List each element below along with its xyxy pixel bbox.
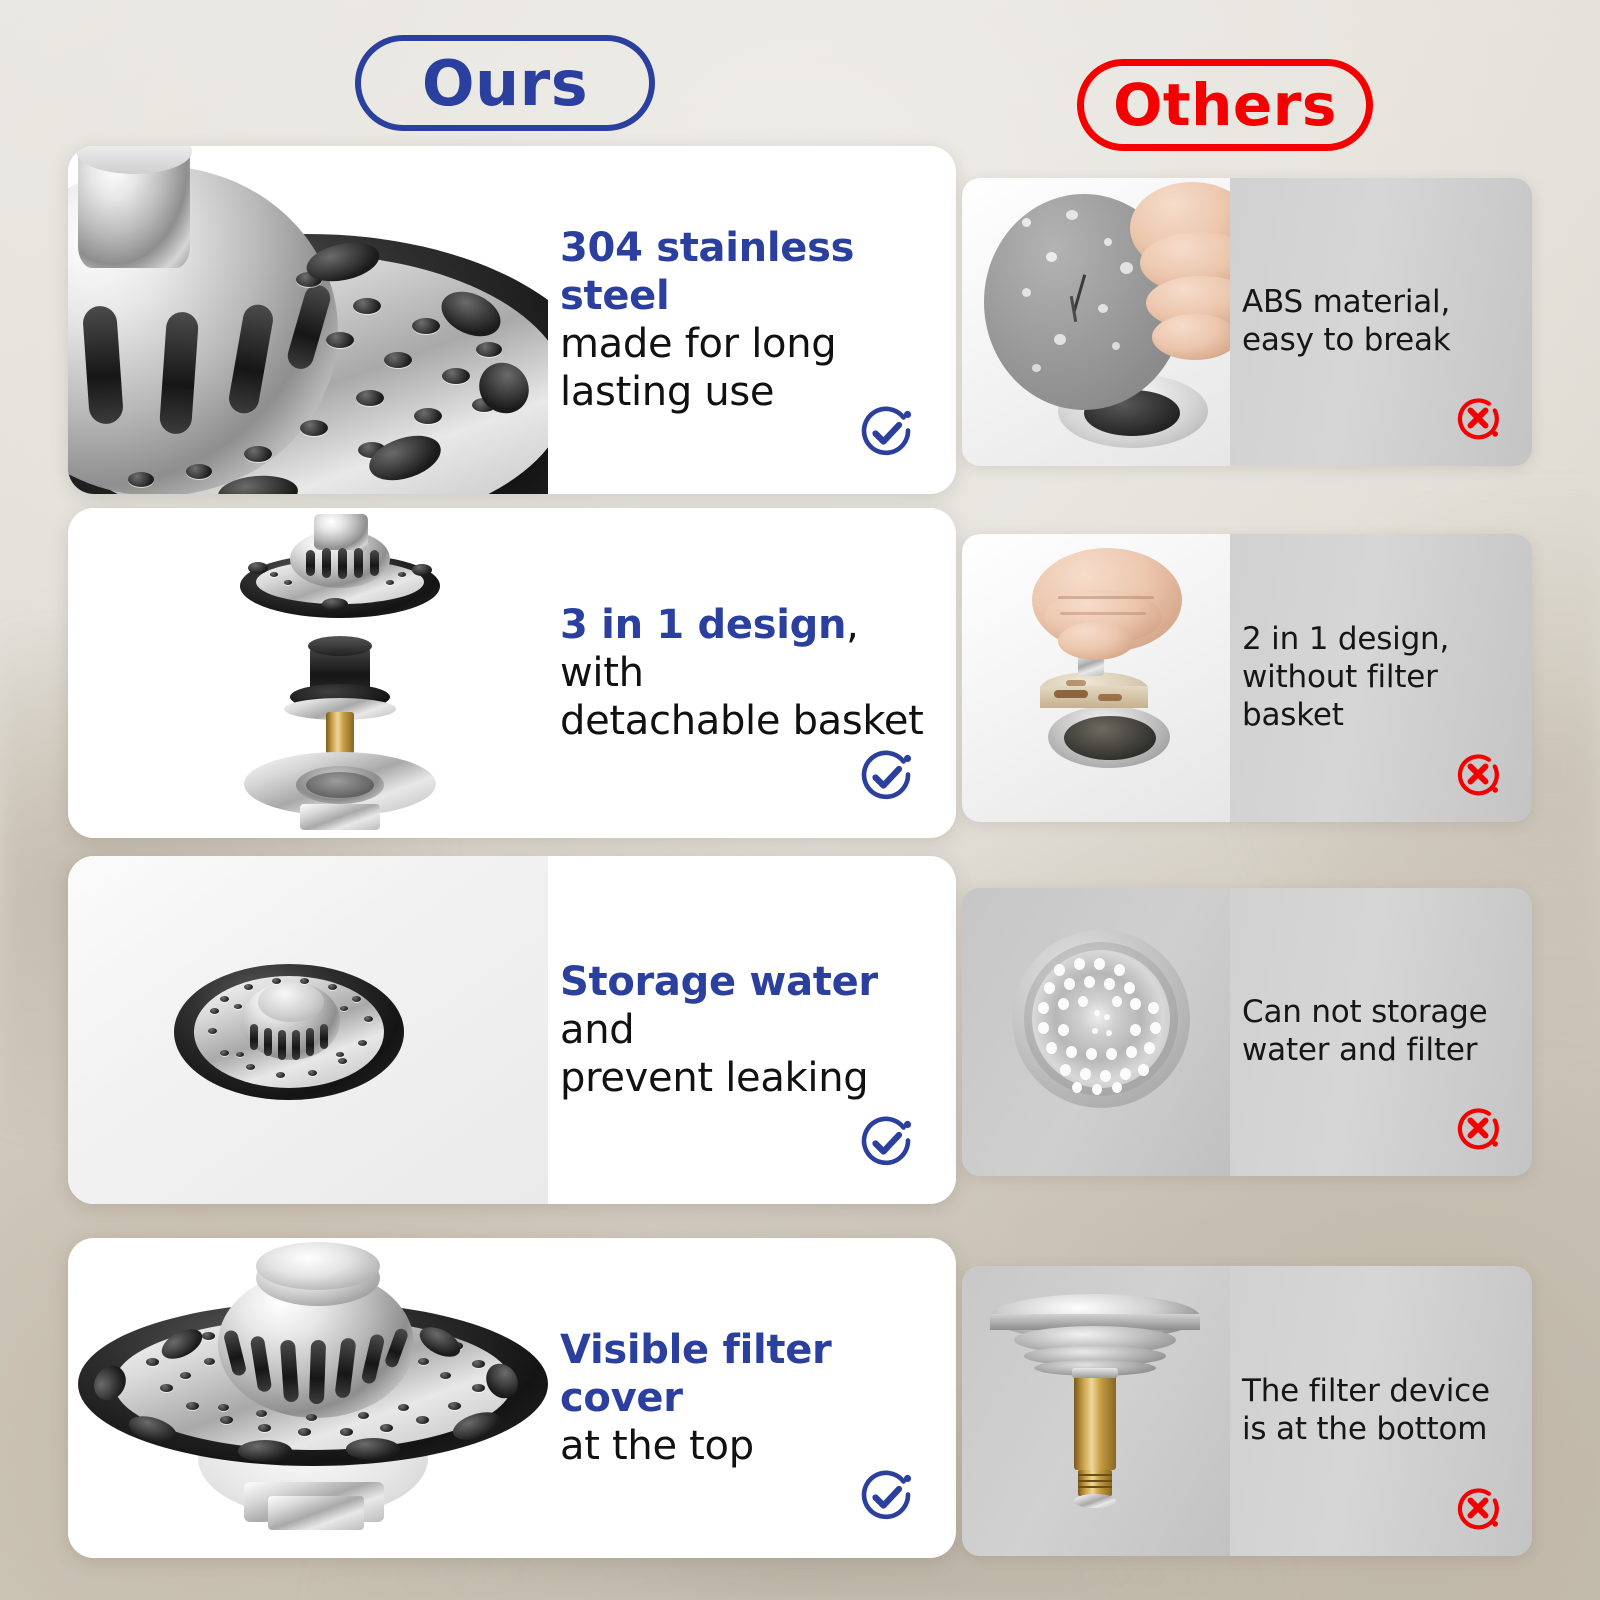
others-card-row2: 2 in 1 design, without filter basket [962, 534, 1532, 822]
comparison-infographic: Ours Others [0, 0, 1600, 1600]
others-card-row3: Can not storage water and filter [962, 888, 1532, 1176]
ours-image-row4 [68, 1238, 548, 1558]
others-image-row1 [962, 178, 1230, 466]
badge-ours-label: Ours [422, 47, 588, 120]
ours-image-row2 [68, 508, 548, 838]
ours-text-row3: Storage water and prevent leaking [548, 856, 956, 1204]
check-circle-icon [856, 746, 918, 812]
cross-circle-icon [1452, 392, 1504, 448]
ours-card-row3: Storage water and prevent leaking [68, 856, 956, 1204]
ours-card-row2: 3 in 1 design, with detachable basket [68, 508, 956, 838]
cross-circle-icon [1452, 1102, 1504, 1158]
cross-circle-icon [1452, 1482, 1504, 1538]
badge-ours: Ours [355, 35, 655, 131]
ours-row3-line1: Storage water and [560, 958, 930, 1054]
check-circle-icon [856, 402, 918, 468]
ours-row4-line2: at the top [560, 1422, 930, 1470]
ours-row4-line1: Visible filter cover [560, 1326, 930, 1422]
others-row3-line1: Can not storage [1242, 994, 1516, 1032]
others-row1-line2: easy to break [1242, 322, 1516, 360]
ours-text-row1: 304 stainless steel made for long lastin… [548, 146, 956, 494]
others-card-row1: ABS material, easy to break [962, 178, 1532, 466]
ours-text-row4: Visible filter cover at the top [548, 1238, 956, 1558]
check-circle-icon [856, 1112, 918, 1178]
others-text-row2: 2 in 1 design, without filter basket [1230, 534, 1532, 822]
ours-row3-line2: prevent leaking [560, 1054, 930, 1102]
others-text-row1: ABS material, easy to break [1230, 178, 1532, 466]
ours-image-row1 [68, 146, 548, 494]
others-text-row4: The filter device is at the bottom [1230, 1266, 1532, 1556]
ours-card-row4: Visible filter cover at the top [68, 1238, 956, 1558]
ours-row1-line2: made for long [560, 320, 930, 368]
others-card-row4: The filter device is at the bottom [962, 1266, 1532, 1556]
ours-row1-line1: 304 stainless steel [560, 224, 930, 320]
ours-card-row1: 304 stainless steel made for long lastin… [68, 146, 956, 494]
others-row2-line2: without filter [1242, 659, 1516, 697]
others-row2-line3: basket [1242, 697, 1516, 735]
check-circle-icon [856, 1466, 918, 1532]
others-row4-line2: is at the bottom [1242, 1411, 1516, 1449]
others-row2-line1: 2 in 1 design, [1242, 621, 1516, 659]
others-row3-line2: water and filter [1242, 1032, 1516, 1070]
others-text-row3: Can not storage water and filter [1230, 888, 1532, 1176]
others-row4-line1: The filter device [1242, 1373, 1516, 1411]
ours-text-row2: 3 in 1 design, with detachable basket [548, 508, 956, 838]
badge-others: Others [1077, 59, 1373, 151]
ours-image-row3 [68, 856, 548, 1204]
cross-circle-icon [1452, 748, 1504, 804]
others-image-row2 [962, 534, 1230, 822]
others-image-row4 [962, 1266, 1230, 1556]
others-image-row3 [962, 888, 1230, 1176]
ours-row2-line1: 3 in 1 design, with [560, 601, 930, 697]
others-row1-line1: ABS material, [1242, 284, 1516, 322]
badge-others-label: Others [1113, 71, 1337, 139]
ours-row2-line2: detachable basket [560, 697, 930, 745]
